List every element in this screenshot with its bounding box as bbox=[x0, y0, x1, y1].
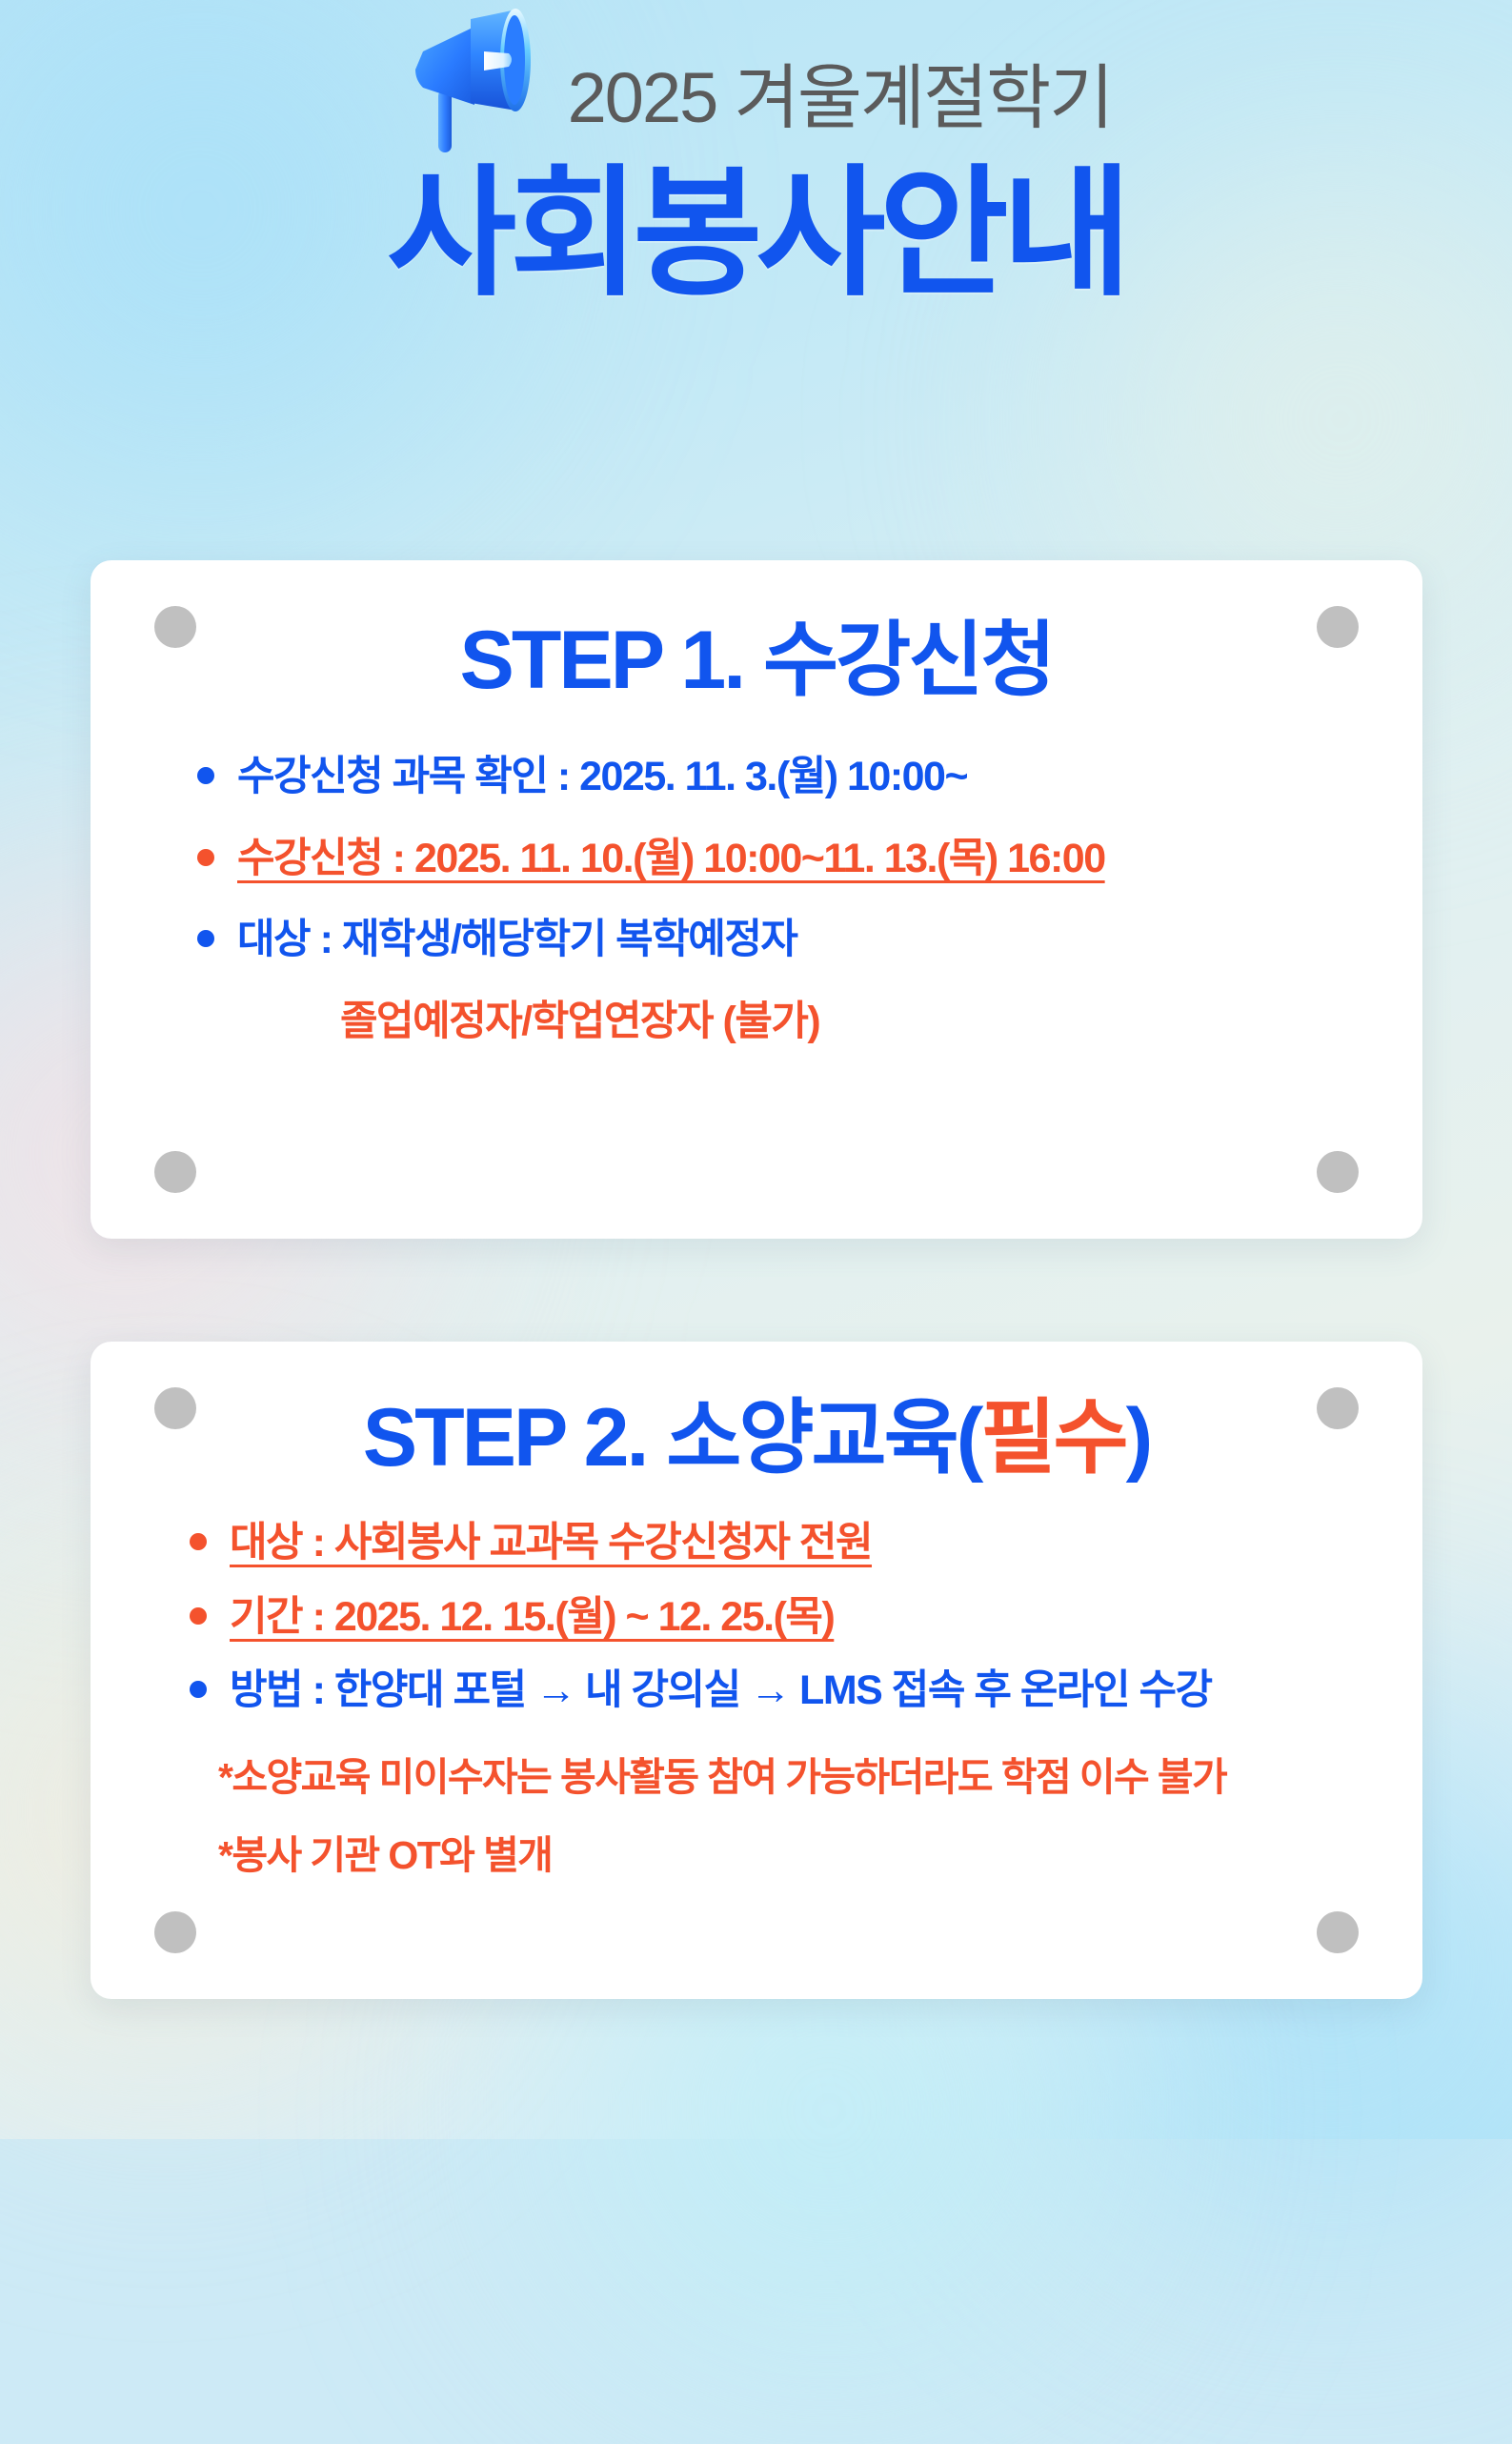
poster-header: 2025 겨울계절학기 사회봉사안내 bbox=[0, 27, 1512, 307]
bullet-marker-icon bbox=[190, 1607, 207, 1625]
bullet-marker-icon bbox=[197, 849, 214, 866]
card-step1-title-prefix: STEP 1. bbox=[459, 615, 763, 706]
card-step2-title-suffix: ) bbox=[1126, 1392, 1151, 1484]
eyebrow-row: 2025 겨울계절학기 bbox=[0, 27, 1512, 155]
card-corner-dot bbox=[154, 1387, 196, 1429]
list-item-label: 수강신청 과목 확인 : 2025. 11. 3.(월) 10:00~ bbox=[237, 753, 967, 802]
page-title: 사회봉사안내 bbox=[0, 163, 1512, 307]
list-item-label: 대상 : 재학생/해당학기 복학예정자 bbox=[237, 916, 796, 965]
list-item-label: 대상 : 사회봉사 교과목 수강신청자 전원 bbox=[230, 1519, 872, 1568]
bullet-marker-icon bbox=[190, 1533, 207, 1550]
eyebrow-text: 2025 겨울계절학기 bbox=[568, 63, 1113, 133]
list-item-label: 방법 : 한양대 포털 → 내 강의실 → LMS 접속 후 온라인 수강 bbox=[230, 1666, 1212, 1716]
card-corner-dot bbox=[1317, 1387, 1359, 1429]
note-line: *소양교육 미이수자는 봉사활동 참여 가능하더라도 학점 이수 불가 bbox=[218, 1745, 1422, 1802]
card-corner-dot bbox=[154, 606, 196, 648]
list-item: 수강신청 : 2025. 11. 10.(월) 10:00~11. 13.(목)… bbox=[197, 835, 1422, 884]
card-step2-title-highlight: 필수 bbox=[980, 1392, 1125, 1484]
list-item-label: 기간 : 2025. 12. 15.(월) ~ 12. 25.(목) bbox=[230, 1593, 834, 1643]
card-step1-subline: 졸업예정자/학업연장자 (불가) bbox=[340, 988, 1422, 1047]
card-step2: STEP 2. 소양교육(필수) 대상 : 사회봉사 교과목 수강신청자 전원 … bbox=[91, 1342, 1422, 1999]
card-step2-bullet-list: 대상 : 사회봉사 교과목 수강신청자 전원 기간 : 2025. 12. 15… bbox=[91, 1519, 1422, 1716]
card-corner-dot bbox=[1317, 1911, 1359, 1953]
megaphone-icon bbox=[400, 0, 543, 155]
bullet-marker-icon bbox=[197, 930, 214, 947]
poster: 2025 겨울계절학기 사회봉사안내 STEP 1. 수강신청 수강신청 과목 … bbox=[0, 0, 1512, 2139]
card-step2-notes: *소양교육 미이수자는 봉사활동 참여 가능하더라도 학점 이수 불가 *봉사 … bbox=[91, 1745, 1422, 1880]
card-step2-title-prefix: STEP 2. bbox=[363, 1392, 667, 1484]
bullet-marker-icon bbox=[197, 767, 214, 784]
card-step1: STEP 1. 수강신청 수강신청 과목 확인 : 2025. 11. 3.(월… bbox=[91, 560, 1422, 1239]
card-step1-title: STEP 1. 수강신청 bbox=[91, 560, 1422, 701]
card-corner-dot bbox=[154, 1151, 196, 1193]
list-item: 대상 : 재학생/해당학기 복학예정자 bbox=[197, 916, 1422, 965]
note-line: *봉사 기관 OT와 별개 bbox=[218, 1823, 1422, 1880]
card-corner-dot bbox=[1317, 606, 1359, 648]
card-step2-title-main: 소양교육( bbox=[666, 1392, 980, 1484]
card-step1-bullet-list: 수강신청 과목 확인 : 2025. 11. 3.(월) 10:00~ 수강신청… bbox=[91, 753, 1422, 1047]
card-corner-dot bbox=[154, 1911, 196, 1953]
card-corner-dot bbox=[1317, 1151, 1359, 1193]
list-item: 방법 : 한양대 포털 → 내 강의실 → LMS 접속 후 온라인 수강 bbox=[190, 1666, 1422, 1716]
card-step2-title: STEP 2. 소양교육(필수) bbox=[91, 1342, 1422, 1479]
bullet-marker-icon bbox=[190, 1681, 207, 1698]
list-item-label: 수강신청 : 2025. 11. 10.(월) 10:00~11. 13.(목)… bbox=[237, 835, 1105, 884]
list-item: 수강신청 과목 확인 : 2025. 11. 3.(월) 10:00~ bbox=[197, 753, 1422, 802]
list-item: 기간 : 2025. 12. 15.(월) ~ 12. 25.(목) bbox=[190, 1593, 1422, 1643]
card-step1-title-main: 수강신청 bbox=[763, 615, 1053, 706]
list-item: 대상 : 사회봉사 교과목 수강신청자 전원 bbox=[190, 1519, 1422, 1568]
